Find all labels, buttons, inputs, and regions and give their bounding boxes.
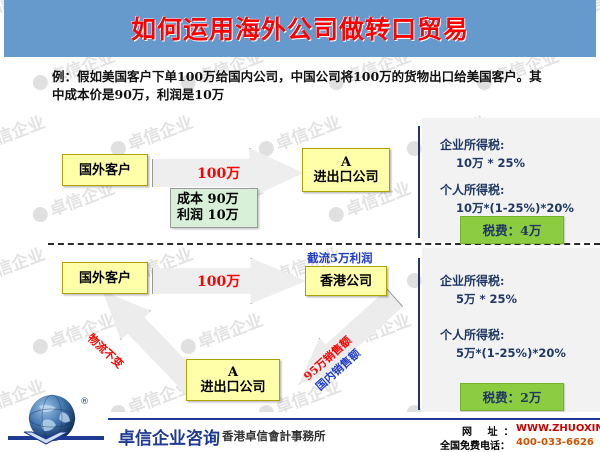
profit-label: 利润 [177,208,203,223]
hong-kong-company-box: 香港公司 [305,266,387,296]
slide-title-bar: 如何运用海外公司做转口贸易 [4,0,596,57]
footer-web-label: 网 址： [462,423,519,438]
bottom-company-letter: A [228,365,238,380]
top-corporate-tax-label: 企业所得税: [440,136,504,153]
bottom-total-tax-chip: 税费：2万 [460,383,564,411]
profit-value: 10万 [208,208,239,223]
bottom-personal-tax-formula: 5万*(1-25%)*20% [456,345,566,361]
cost-value: 90万 [208,192,239,207]
intro-paragraph: 例：假如美国客户下单100万给国内公司，中国公司将100万的货物出口给美国客户。… [52,68,552,104]
top-foreign-customer-label: 国外客户 [79,163,131,178]
cost-label: 成本 [177,192,203,207]
bottom-company-name: 进出口公司 [200,380,265,395]
top-foreign-customer-box: 国外客户 [62,154,148,186]
top-import-export-company-box: A 进出口公司 [302,148,390,192]
page-title: 如何运用海外公司做转口贸易 [4,10,596,46]
top-personal-tax-formula: 10万*(1-25%)*20% [456,200,574,216]
top-company-name: 进出口公司 [313,170,378,185]
bottom-corporate-tax-label: 企业所得税: [440,272,504,289]
top-company-letter: A [341,155,351,170]
footer-web-value: WWW.ZHUOXIN.HK [516,423,600,434]
tax-panel-top-divider [418,126,420,238]
bottom-corporate-tax-formula: 5万 * 25% [456,291,517,307]
top-personal-tax-label: 个人所得税: [440,181,504,198]
cost-profit-box: 成本 90万 利润 10万 [170,188,258,228]
slide-page: 如何运用海外公司做转口贸易 例：假如美国客户下单100万给国内公司，中国公司将1… [0,0,600,452]
top-corporate-tax-formula: 10万 * 25% [456,155,525,171]
footer-rule [108,418,600,420]
top-total-tax-chip: 税费：4万 [460,216,564,244]
footer-tel-label: 全国免费电话： [440,437,510,452]
bottom-personal-tax-label: 个人所得税: [440,326,504,343]
registered-mark: ® [80,397,89,407]
footer-brand-subtitle: 香港卓信會計事務所 [222,428,326,444]
tax-panel-bottom-divider [418,258,420,410]
profit-row: 利润 10万 [177,208,251,224]
cost-row: 成本 90万 [177,192,251,208]
hk-intercept-note: 截流5万利润 [307,250,373,266]
top-flow-amount: 100万 [197,163,240,183]
bottom-foreign-customer-label: 国外客户 [79,271,131,286]
hong-kong-company-label: 香港公司 [320,274,372,289]
bottom-import-export-company-box: A 进出口公司 [186,359,280,401]
footer-brand-name: 卓信企业咨询 [118,424,220,449]
bottom-flow-amount: 100万 [197,271,240,291]
bottom-foreign-customer-box: 国外客户 [62,262,148,294]
company-logo-icon: ® [6,392,106,450]
footer-tel-value: 400-033-6626 [516,437,594,448]
